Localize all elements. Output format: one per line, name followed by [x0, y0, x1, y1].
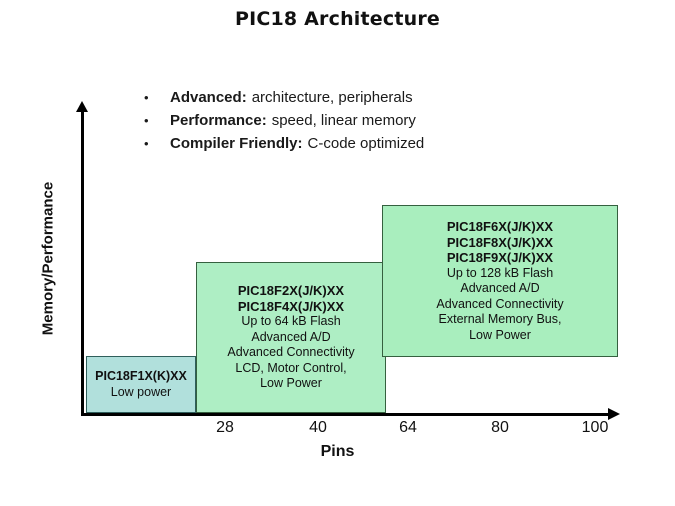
segment-feature: LCD, Motor Control,: [235, 361, 346, 377]
bullet-dot-icon: •: [144, 109, 170, 132]
bullet-dot-icon: •: [144, 86, 170, 109]
segment-box-pic18f1x: PIC18F1X(K)XX Low power: [86, 356, 196, 413]
slide-canvas: PIC18 Architecture • Advanced: architect…: [0, 0, 675, 506]
segment-feature: External Memory Bus,: [439, 312, 562, 328]
segment-title: PIC18F6X(J/K)XX: [447, 219, 553, 235]
segment-feature: Advanced Connectivity: [227, 345, 354, 361]
segment-feature: Low Power: [469, 328, 531, 344]
y-axis-arrow-icon: [76, 101, 88, 112]
bullet-item-compiler-friendly: • Compiler Friendly: C-code optimized: [144, 132, 564, 155]
bullet-label-advanced: Advanced:: [170, 86, 247, 109]
x-tick-label-100: 100: [565, 419, 625, 437]
bullet-label-compiler-friendly: Compiler Friendly:: [170, 132, 303, 155]
segment-feature: Advanced A/D: [460, 281, 539, 297]
segment-title: PIC18F9X(J/K)XX: [447, 250, 553, 266]
segment-feature: Advanced Connectivity: [436, 297, 563, 313]
segment-title: PIC18F4X(J/K)XX: [238, 299, 344, 315]
segment-title: PIC18F2X(J/K)XX: [238, 283, 344, 299]
segment-feature: Low Power: [260, 376, 322, 392]
bullet-text-compiler-friendly: C-code optimized: [308, 132, 425, 155]
segment-feature: Low power: [111, 385, 171, 401]
x-tick-label-64: 64: [378, 419, 438, 437]
x-tick-label-28: 28: [195, 419, 255, 437]
segment-feature: Advanced A/D: [251, 330, 330, 346]
bullet-item-advanced: • Advanced: architecture, peripherals: [144, 86, 564, 109]
bullet-item-performance: • Performance: speed, linear memory: [144, 109, 564, 132]
x-axis-title: Pins: [0, 443, 675, 461]
y-axis-title: Memory/Performance: [40, 159, 57, 359]
segment-box-pic18f6x-f8x-f9x: PIC18F6X(J/K)XX PIC18F8X(J/K)XX PIC18F9X…: [382, 205, 618, 357]
x-tick-label-40: 40: [288, 419, 348, 437]
y-axis-line: [81, 110, 84, 415]
bullet-dot-icon: •: [144, 132, 170, 155]
segment-title: PIC18F8X(J/K)XX: [447, 235, 553, 251]
segment-feature: Up to 128 kB Flash: [447, 266, 553, 282]
bullet-list: • Advanced: architecture, peripherals • …: [144, 86, 564, 155]
bullet-text-advanced: architecture, peripherals: [252, 86, 413, 109]
x-tick-label-80: 80: [470, 419, 530, 437]
bullet-label-performance: Performance:: [170, 109, 267, 132]
page-title: PIC18 Architecture: [0, 8, 675, 30]
segment-feature: Up to 64 kB Flash: [241, 314, 340, 330]
segment-title: PIC18F1X(K)XX: [95, 369, 187, 385]
segment-box-pic18f2x-f4x: PIC18F2X(J/K)XX PIC18F4X(J/K)XX Up to 64…: [196, 262, 386, 413]
x-axis-line: [81, 413, 611, 416]
bullet-text-performance: speed, linear memory: [272, 109, 416, 132]
